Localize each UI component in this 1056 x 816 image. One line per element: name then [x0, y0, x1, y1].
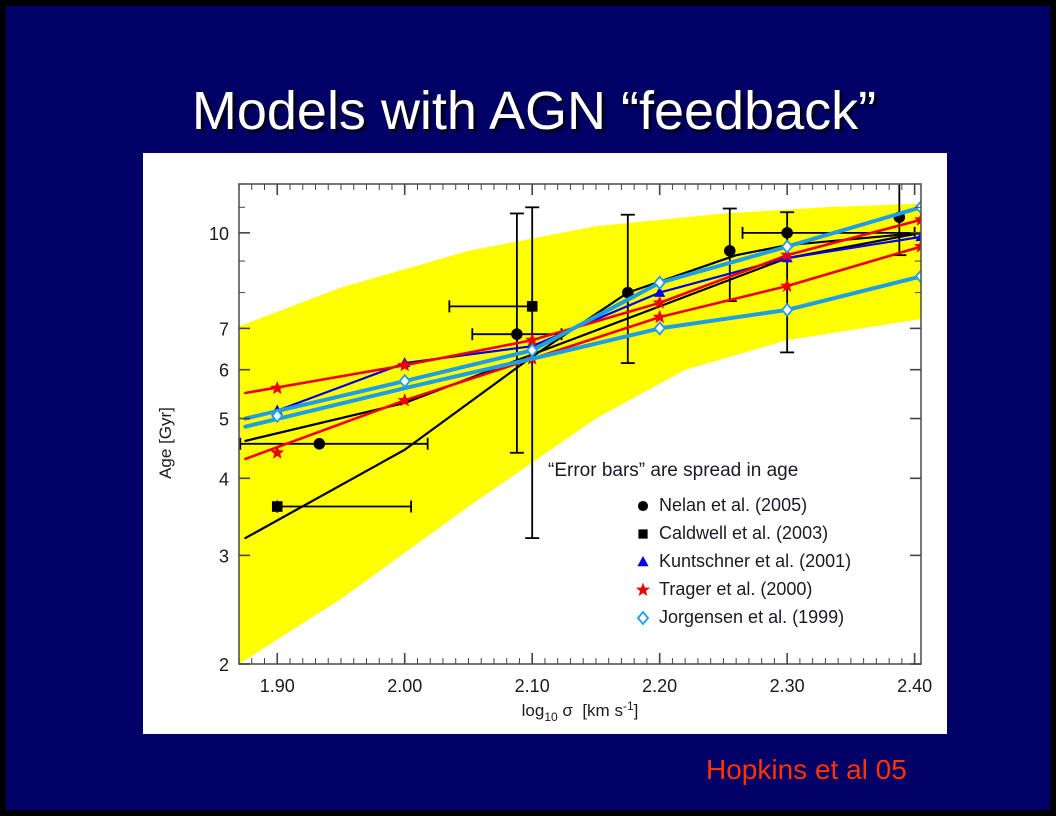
y-tick-label: 3 — [219, 546, 229, 566]
legend-item-0: Nelan et al. (2005) — [638, 495, 807, 515]
y-tick-label: 4 — [219, 469, 229, 489]
legend-label: Jorgensen et al. (1999) — [659, 607, 844, 627]
legend-item-3: Trager et al. (2000) — [636, 579, 812, 599]
legend-label: Kuntschner et al. (2001) — [659, 551, 851, 571]
attribution-credit: Hopkins et al 05 — [706, 754, 907, 786]
legend-item-1: Caldwell et al. (2003) — [638, 523, 828, 543]
legend-label: Caldwell et al. (2003) — [659, 523, 828, 543]
legend-item-2: Kuntschner et al. (2001) — [637, 551, 851, 571]
x-tick-label: 2.30 — [770, 676, 805, 696]
legend-item-4: Jorgensen et al. (1999) — [638, 607, 844, 627]
y-tick-label: 10 — [209, 224, 229, 244]
x-tick-label: 1.90 — [260, 676, 295, 696]
figure-panel: 1.902.002.102.202.302.40 23456710 log10 … — [143, 153, 947, 734]
y-tick-label: 7 — [219, 319, 229, 339]
x-tick-label: 2.10 — [515, 676, 550, 696]
y-tick-label: 5 — [219, 410, 229, 430]
x-tick-label: 2.20 — [642, 676, 677, 696]
y-tick-label: 2 — [219, 655, 229, 675]
legend-label: Trager et al. (2000) — [659, 579, 812, 599]
y-axis-label: Age [Gyr] — [156, 407, 175, 479]
x-tick-label: 2.40 — [897, 676, 932, 696]
presentation-slide: Models with AGN “feedback” 1.902.002.102… — [0, 0, 1056, 816]
legend-label: Nelan et al. (2005) — [659, 495, 807, 515]
chart-annotation: “Error bars” are spread in age — [548, 460, 798, 481]
slide-title: Models with AGN “feedback” — [6, 80, 1056, 142]
x-tick-label: 2.00 — [387, 676, 422, 696]
age-sigma-plot: 1.902.002.102.202.302.40 23456710 log10 … — [143, 153, 947, 734]
y-tick-label: 6 — [219, 361, 229, 381]
